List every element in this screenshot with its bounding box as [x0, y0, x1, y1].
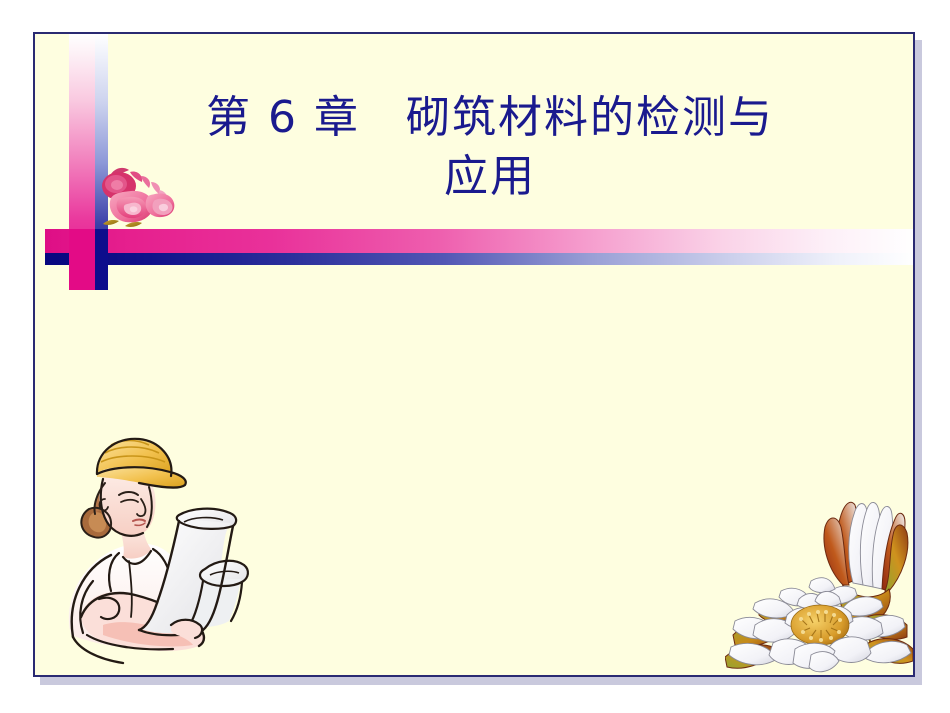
- decor-horizontal-bar-blue: [45, 253, 915, 265]
- engineer-figure-clipart: [53, 429, 253, 677]
- decor-horizontal-bar-pink: [45, 229, 915, 253]
- slide-title-line-1: 第 6 章 砌筑材料的检测与: [95, 89, 885, 148]
- decor-vertical-bar-blue-lower: [95, 229, 108, 290]
- water-lily-clipart: [725, 489, 915, 675]
- slide-title-line-2: 应用: [95, 148, 885, 207]
- decor-vertical-bar-pink-lower: [69, 229, 95, 290]
- slide-title: 第 6 章 砌筑材料的检测与 应用: [95, 89, 885, 206]
- slide-frame: 第 6 章 砌筑材料的检测与 应用: [33, 32, 915, 677]
- slide-canvas: 第 6 章 砌筑材料的检测与 应用: [0, 0, 950, 713]
